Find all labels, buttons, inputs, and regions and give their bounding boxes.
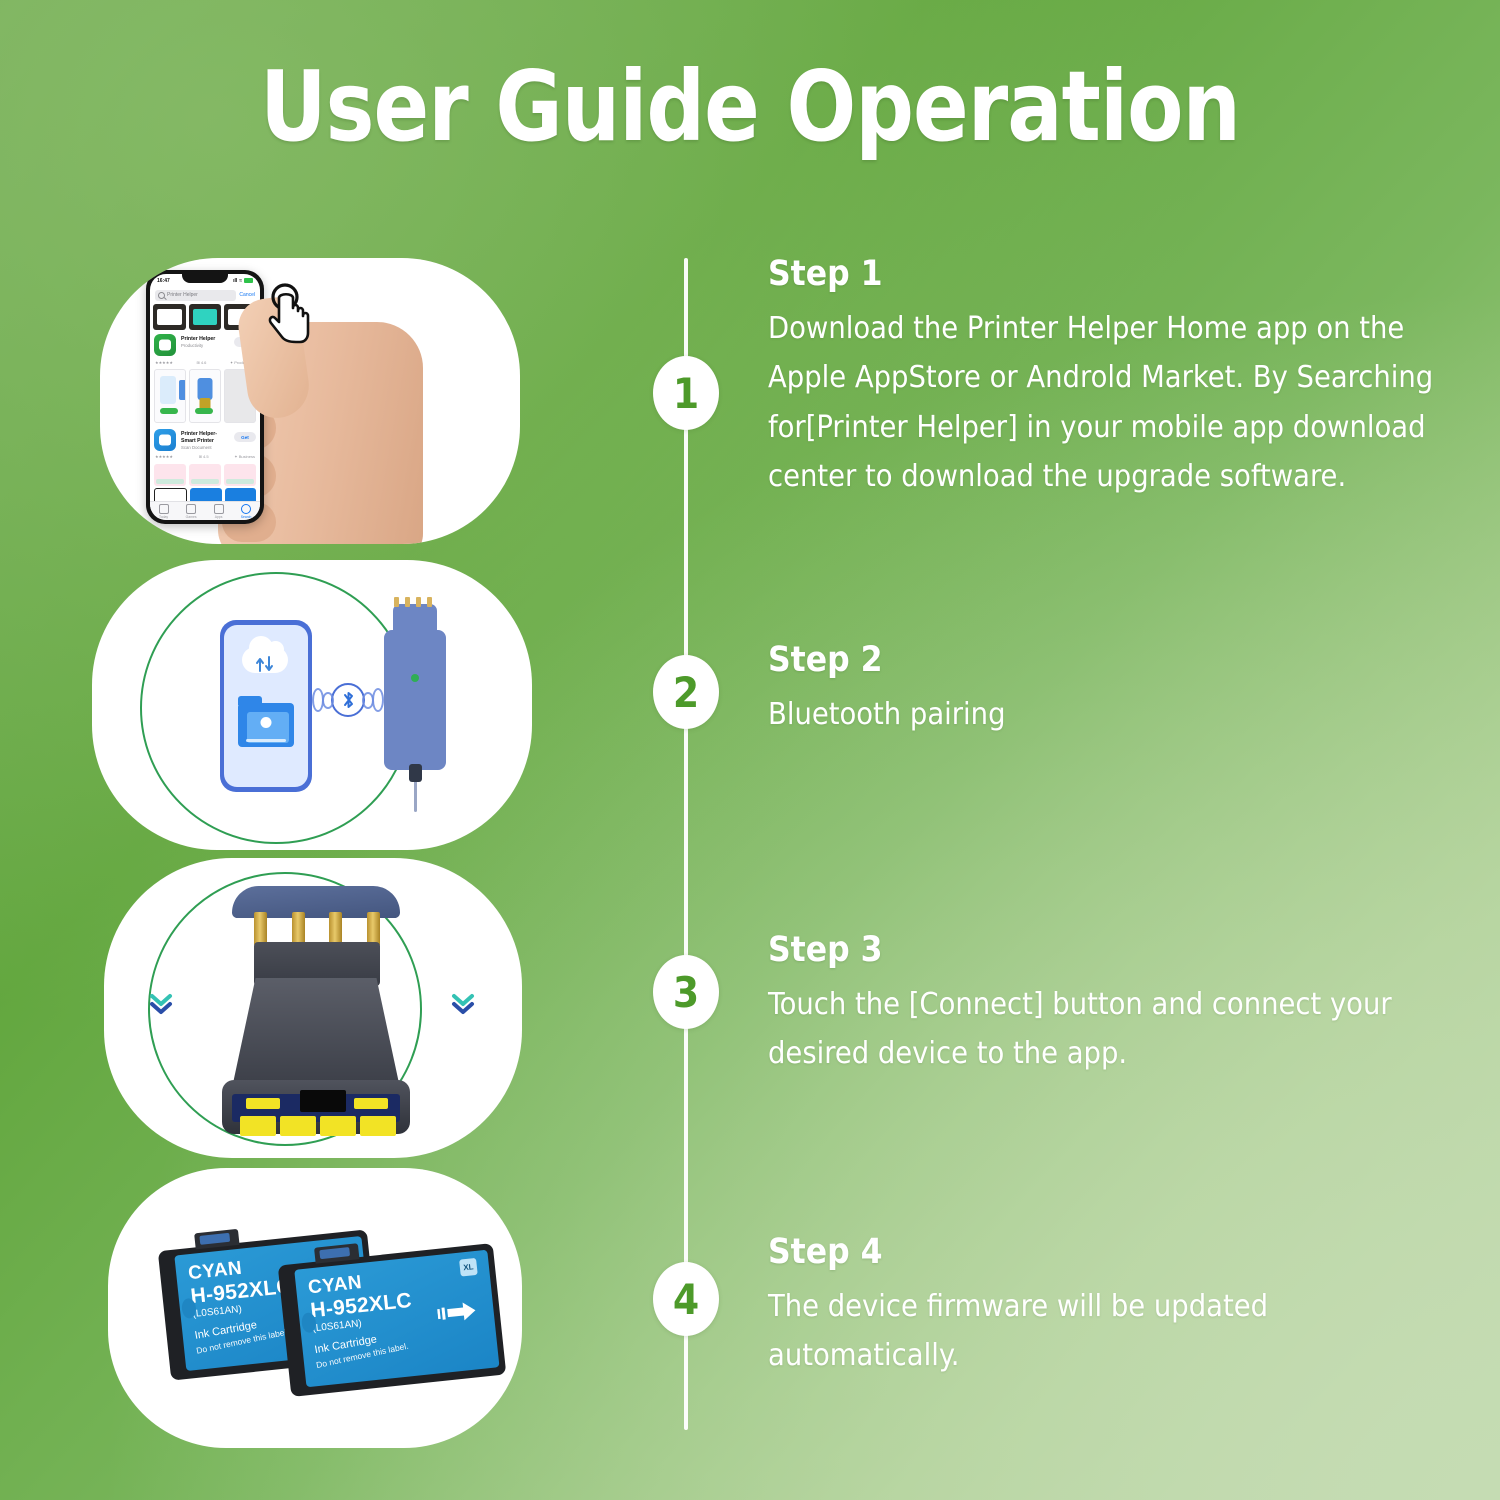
app-rating-row: ★★★★★ ⊞ 4.6 ✦ Productivity <box>155 360 255 365</box>
rating-meta: ⊞ 4.5 <box>199 454 209 459</box>
app-preview-tiles[interactable] <box>154 464 256 486</box>
phone-illustration <box>220 620 312 792</box>
battery-icon <box>244 278 253 283</box>
tab-today[interactable]: Today <box>159 504 169 519</box>
step-3-heading: Step 3 <box>768 930 1458 970</box>
timeline-track <box>684 258 688 1430</box>
preview-tile[interactable] <box>189 464 221 486</box>
screenshot-thumb[interactable] <box>154 369 186 423</box>
phone-tab-bar[interactable]: Today Games Apps Search <box>150 501 260 520</box>
status-led-icon <box>411 674 419 682</box>
step-badge-3: 3 <box>653 955 719 1029</box>
step-1-heading: Step 1 <box>768 254 1458 294</box>
tab-search[interactable]: Search <box>241 504 252 519</box>
banner-item[interactable] <box>189 304 222 330</box>
banner-item[interactable] <box>153 304 186 330</box>
chevron-down-icon <box>450 990 476 1016</box>
phone-notch <box>182 274 228 283</box>
step-3-illustration-card <box>104 858 522 1158</box>
bluetooth-icon <box>331 683 365 717</box>
step-2-illustration-card <box>92 560 532 850</box>
folder-icon <box>238 703 294 747</box>
app-icon <box>154 334 176 356</box>
chevron-down-icon <box>148 990 174 1016</box>
direction-arrow-icon <box>437 1300 479 1324</box>
signal-icon: ıII <box>233 278 237 284</box>
search-input[interactable]: Printer Helper <box>155 290 236 301</box>
search-icon <box>158 292 165 299</box>
connector-gold-pins <box>254 912 380 946</box>
infographic-page: User Guide Operation 16:47 ıII ≈ <box>0 0 1500 1500</box>
step-2-text: Step 2 Bluetooth pairing <box>768 640 1458 739</box>
preview-tile[interactable] <box>154 464 186 486</box>
connector-chip <box>300 1090 346 1112</box>
rating-meta: ⊞ 4.6 <box>196 360 206 365</box>
step-3-text: Step 3 Touch the [Connect] button and co… <box>768 930 1458 1079</box>
screenshot-thumb[interactable] <box>189 369 221 423</box>
step-2-body: Bluetooth pairing <box>768 690 1458 739</box>
cancel-button[interactable]: Cancel <box>239 292 255 298</box>
get-button[interactable]: Get <box>234 432 256 442</box>
step-badge-2: 2 <box>653 655 719 729</box>
wifi-icon: ≈ <box>239 278 242 284</box>
step-1-body: Download the Printer Helper Home app on … <box>768 304 1458 502</box>
tab-apps[interactable]: Apps <box>214 504 224 519</box>
xl-badge: XL <box>459 1258 478 1277</box>
app-subtitle: Scan Document <box>181 445 229 451</box>
appstore-search-row[interactable]: Printer Helper Cancel <box>150 288 260 302</box>
ink-cartridge-front: XL CYAN H-952XLC (L0S61AN) Ink Cartridge… <box>278 1243 507 1397</box>
page-title: User Guide Operation <box>45 56 1455 158</box>
step-2-heading: Step 2 <box>768 640 1458 680</box>
step-4-text: Step 4 The device firmware will be updat… <box>768 1232 1458 1381</box>
app-name: Printer Helper-Smart Printer <box>181 431 229 445</box>
connector-mid-body <box>232 978 400 1088</box>
preview-tile[interactable] <box>190 488 221 502</box>
step-4-illustration-card: CYAN H-952XLC (L0S61AN) Ink Cartridge Do… <box>108 1168 522 1448</box>
upload-download-arrows-icon <box>254 655 276 673</box>
rating-stars: ★★★★★ <box>155 454 173 459</box>
usb-cable <box>414 768 417 812</box>
step-3-body: Touch the [Connect] button and connect y… <box>768 980 1458 1079</box>
tab-games[interactable]: Games <box>186 504 197 519</box>
step-4-heading: Step 4 <box>768 1232 1458 1272</box>
app-rating-row: ★★★★★ ⊞ 4.5 ✦ Business <box>155 454 255 459</box>
app-screenshots[interactable] <box>154 369 256 423</box>
preview-tile[interactable] <box>225 488 256 502</box>
step-badge-4: 4 <box>653 1262 719 1336</box>
tap-cursor-icon <box>260 282 312 346</box>
step-1-illustration-card: 16:47 ıII ≈ Printer Helper Cancel <box>100 258 520 544</box>
bluetooth-dongle-illustration <box>384 630 446 770</box>
bluetooth-signal-group <box>310 678 386 722</box>
app-subtitle: Productivity <box>181 343 229 349</box>
search-value: Printer Helper <box>167 292 198 298</box>
rating-stars: ★★★★★ <box>155 360 173 365</box>
app-icon <box>154 429 176 451</box>
app-name: Printer Helper <box>181 336 229 343</box>
rating-category: ✦ Business <box>234 454 255 459</box>
step-1-text: Step 1 Download the Printer Helper Home … <box>768 254 1458 502</box>
app-result-row[interactable]: Printer Helper-Smart Printer Scan Docume… <box>154 429 256 451</box>
status-time: 16:47 <box>157 278 170 284</box>
step-4-body: The device firmware will be updated auto… <box>768 1282 1458 1381</box>
preview-tile[interactable] <box>224 464 256 486</box>
step-badge-1: 1 <box>653 356 719 430</box>
